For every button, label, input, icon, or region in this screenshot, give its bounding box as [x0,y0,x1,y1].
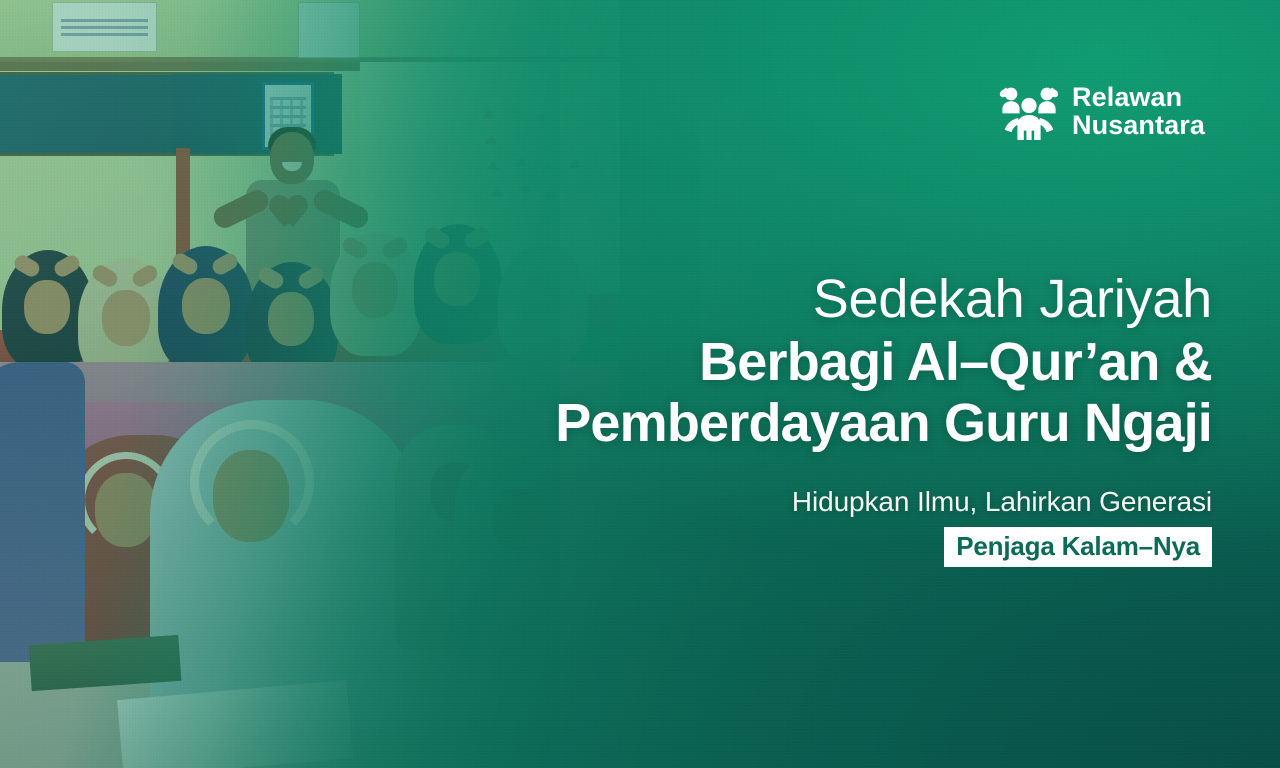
headline-line-3: Pemberdayaan Guru Ngaji [352,394,1212,453]
brand-name: Relawan Nusantara [1072,83,1205,140]
brand-name-line2: Nusantara [1072,110,1205,140]
campaign-banner: Relawan Nusantara Sedekah Jariyah Berbag… [0,0,1280,768]
headline-line-2: Berbagi Al–Qur’an & [352,333,1212,392]
subheadline-highlight: Penjaga Kalam–Nya [944,527,1212,567]
headline-block: Sedekah Jariyah Berbagi Al–Qur’an & Pemb… [352,272,1212,567]
subheadline-highlight-wrap: Penjaga Kalam–Nya [352,527,1212,567]
brand-logo[interactable]: Relawan Nusantara [998,82,1205,140]
headline-line-1: Sedekah Jariyah [352,272,1212,327]
three-people-raised-arms-icon [998,82,1060,140]
brand-name-line1: Relawan [1072,82,1182,112]
subheadline-line-1: Hidupkan Ilmu, Lahirkan Generasi [352,486,1212,518]
